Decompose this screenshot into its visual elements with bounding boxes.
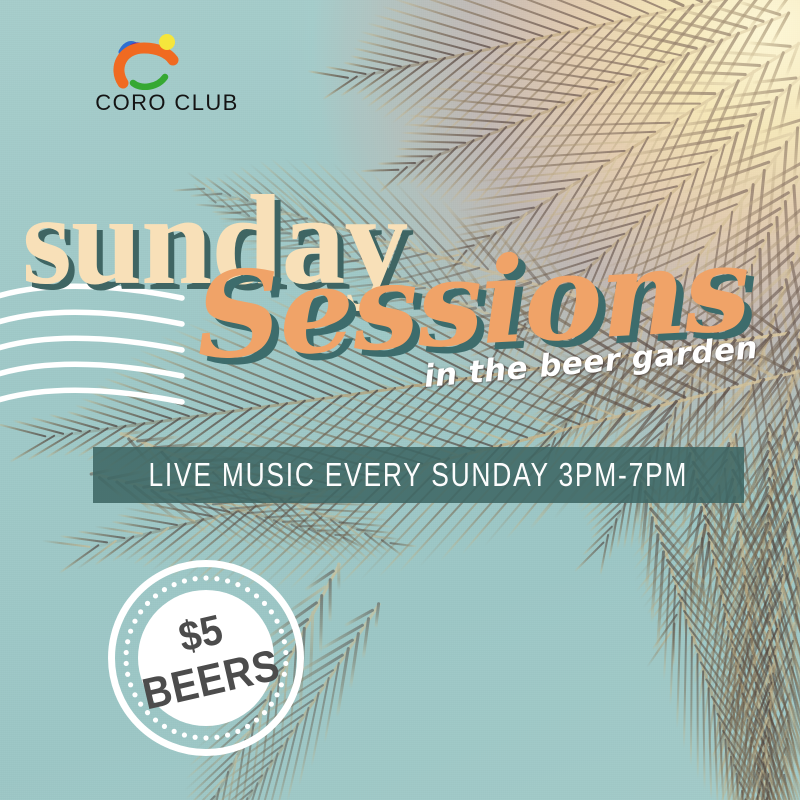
info-banner-text: LIVE MUSIC EVERY SUNDAY 3PM-7PM	[149, 456, 689, 494]
price-badge[interactable]: $5 BEERS	[108, 560, 304, 756]
brand-name: CORO CLUB	[92, 90, 242, 116]
brand-logo[interactable]: CORO CLUB	[92, 28, 242, 120]
info-banner: LIVE MUSIC EVERY SUNDAY 3PM-7PM	[93, 447, 744, 503]
coro-club-c-swoosh-logo	[92, 28, 242, 90]
badge-item: BEERS	[138, 642, 284, 718]
poster-canvas: CORO CLUB sunday Sessions in the beer ga…	[0, 0, 800, 800]
badge-price: $5	[175, 608, 226, 659]
